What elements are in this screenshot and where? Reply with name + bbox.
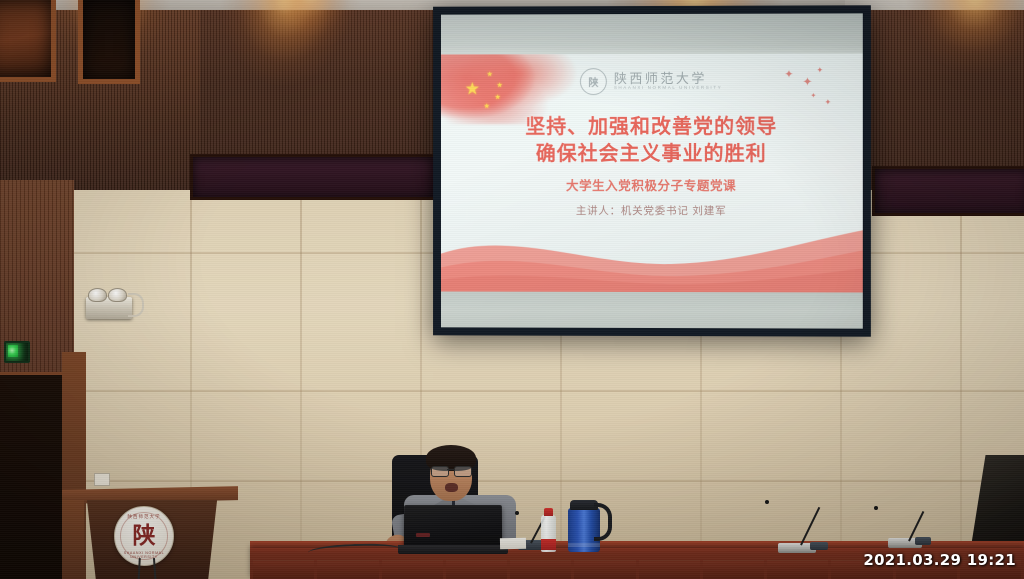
slide-wave-graphic	[441, 220, 863, 293]
lectern-seal-icon: 陕西师范大学 陕 SHAANXI NORMAL UNIVERSITY	[114, 506, 174, 566]
glasses-icon	[430, 466, 472, 475]
timestamp-watermark: 2021.03.29 19:21	[863, 551, 1016, 569]
slide-presenter-line: 主讲人：机关党委书记 刘建军	[441, 202, 863, 217]
acoustic-panel-left	[190, 154, 436, 200]
laptop-screen-lid	[404, 505, 502, 547]
presentation-slide: ★ ★ ★ ★ ★ 陕 陕西师范大学 SHAANXI NORMAL UNIVER…	[441, 54, 863, 293]
slide-title-line-1: 坚持、加强和改善党的领导	[441, 114, 863, 141]
lectern-side	[62, 500, 84, 579]
slide-text-block: 坚持、加强和改善党的领导 确保社会主义事业的胜利 大学生入党积极分子专题党课 主…	[441, 114, 863, 218]
wall-framed-panel-2	[78, 0, 140, 84]
laptop-logo	[416, 533, 430, 537]
flag-star-4: ★	[484, 103, 490, 110]
university-name-en: SHAANXI NORMAL UNIVERSITY	[614, 86, 722, 91]
flag-star-3: ★	[495, 94, 501, 101]
university-seal-icon: 陕	[580, 68, 607, 95]
table-panel	[317, 560, 378, 579]
wall-switch-plate[interactable]	[94, 473, 110, 486]
slide-title-line-2: 确保社会主义事业的胜利	[441, 141, 863, 168]
laptop-base	[398, 545, 508, 554]
exit-sign-icon	[4, 341, 30, 363]
thermos-flask	[568, 500, 604, 552]
flag-star-2: ★	[497, 82, 503, 89]
water-bottle	[541, 508, 556, 552]
lectern-seal-arc-bottom: SHAANXI NORMAL UNIVERSITY	[115, 551, 173, 559]
acoustic-panel-right	[872, 166, 1024, 216]
flag-star-large: ★	[465, 80, 480, 97]
university-logo: 陕 陕西师范大学 SHAANXI NORMAL UNIVERSITY	[580, 68, 722, 95]
lectern-seal-char: 陕	[133, 525, 156, 548]
paper-sheet	[500, 538, 526, 549]
screen-surface: ★ ★ ★ ★ ★ 陕 陕西师范大学 SHAANXI NORMAL UNIVER…	[441, 13, 863, 328]
speaker-mouth	[445, 483, 458, 492]
emergency-light-icon	[86, 297, 132, 319]
table-panel	[446, 560, 507, 579]
table-panel	[639, 560, 700, 579]
side-door	[0, 372, 65, 579]
projection-screen: ★ ★ ★ ★ ★ 陕 陕西师范大学 SHAANXI NORMAL UNIVER…	[433, 5, 871, 336]
lecture-hall-photo: ★ ★ ★ ★ ★ 陕 陕西师范大学 SHAANXI NORMAL UNIVER…	[0, 0, 1024, 579]
wall-framed-panel-1	[0, 0, 56, 82]
table-panel	[703, 560, 764, 579]
lectern-seal-arc-top: 陕西师范大学	[115, 514, 173, 520]
table-panel	[253, 560, 314, 579]
flying-birds-icon: ✦ ✦ ✦ ✦ ✦	[780, 66, 846, 112]
flag-star-1: ★	[487, 71, 493, 78]
table-panel	[574, 560, 635, 579]
slide-subtitle: 大学生入党积极分子专题党课	[441, 175, 863, 194]
laptop[interactable]	[398, 505, 508, 553]
table-panel	[382, 560, 443, 579]
table-panel	[510, 560, 571, 579]
lectern: 陕西师范大学 陕 SHAANXI NORMAL UNIVERSITY	[62, 488, 238, 579]
table-panel	[767, 560, 828, 579]
